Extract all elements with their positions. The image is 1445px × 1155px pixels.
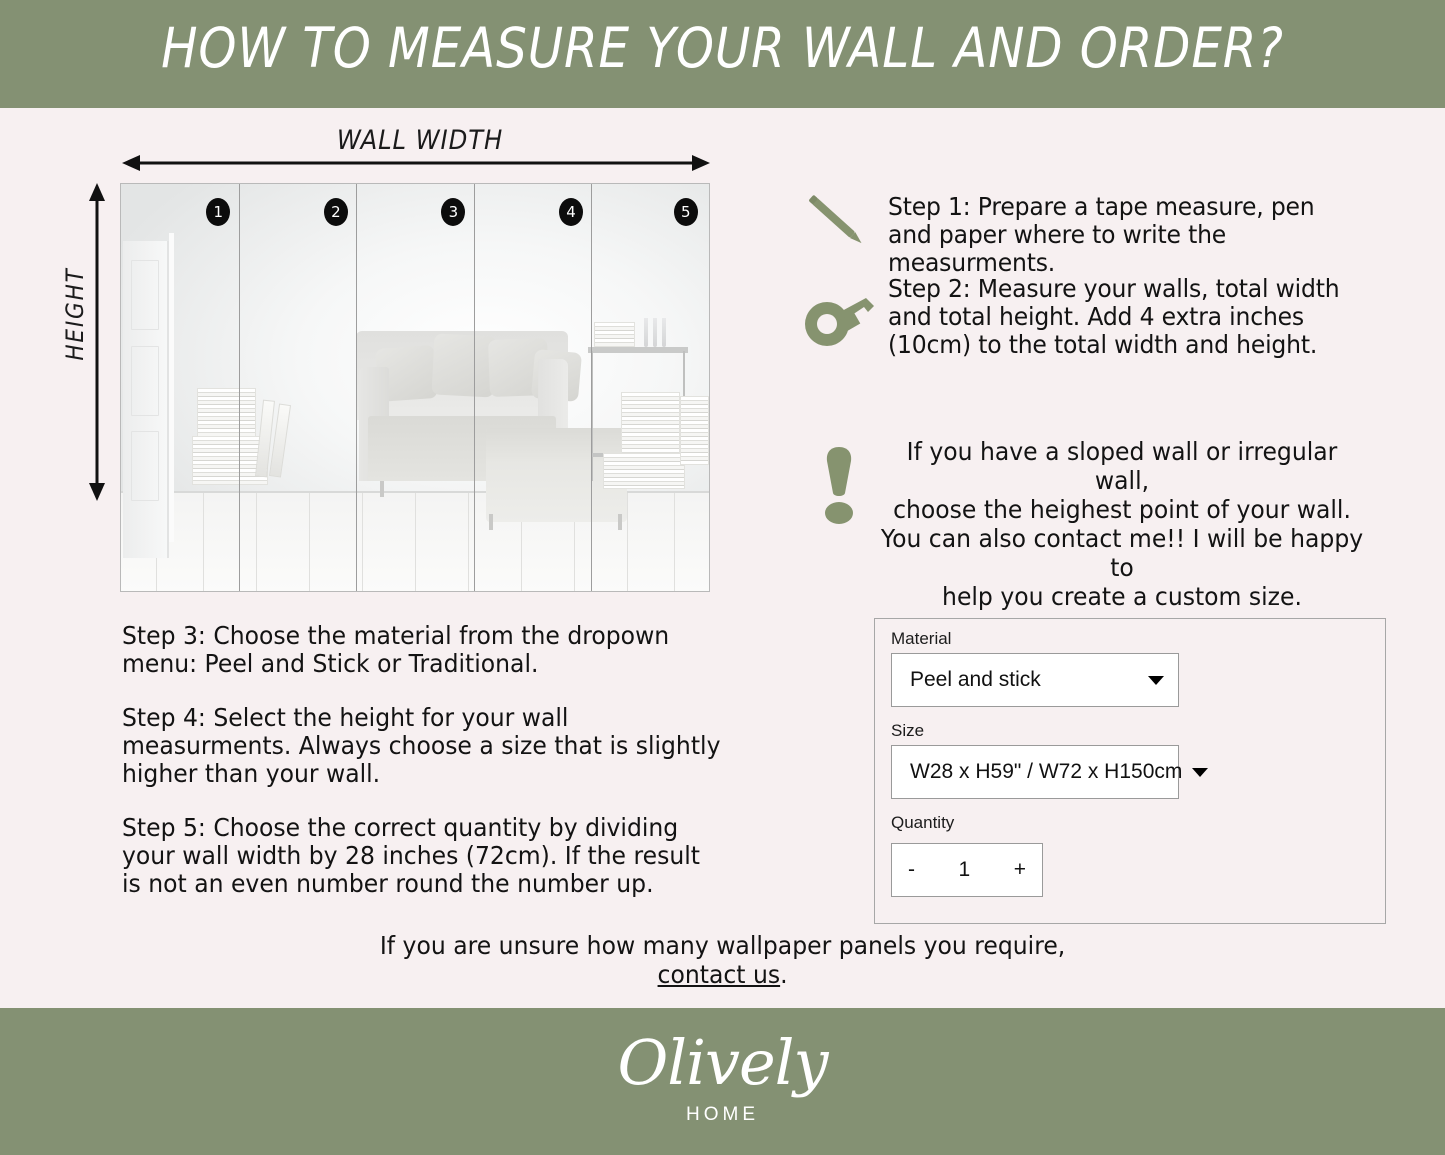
double-arrow-horizontal-icon: [122, 152, 710, 174]
size-select-value: W28 x H59" / W72 x H150cm: [910, 760, 1182, 784]
door: [123, 241, 169, 558]
note-line-3: You can also contact me!! I will be happ…: [878, 524, 1367, 582]
step-4-text: Step 4: Select the height for your wall …: [122, 704, 724, 788]
material-label: Material: [891, 629, 951, 649]
panel-divider: [356, 184, 357, 591]
panel-divider: [239, 184, 240, 591]
door-casing: [169, 233, 174, 542]
book-stack: [680, 396, 709, 465]
glassware: [653, 318, 657, 346]
brand-logo-subtitle: HOME: [0, 1104, 1445, 1126]
chevron-down-icon: [1192, 768, 1208, 777]
note-line-1: If you have a sloped wall or irregular w…: [878, 437, 1367, 495]
footnote-line-1: If you are unsure how many wallpaper pan…: [380, 932, 1065, 961]
book-stack: [594, 322, 635, 346]
sofa-leg: [618, 514, 622, 530]
sofa-leg: [380, 481, 384, 497]
step-5-text: Step 5: Choose the correct quantity by d…: [122, 814, 724, 898]
exclamation-icon: [814, 443, 864, 527]
double-arrow-vertical-icon: [86, 183, 108, 501]
quantity-decrement-button[interactable]: -: [908, 858, 915, 882]
glassware: [644, 318, 648, 346]
note-line-2: choose the heighest point of your wall.: [878, 495, 1367, 524]
panel-badge-2: 2: [324, 198, 348, 226]
room-scene: [121, 184, 709, 591]
panel-divider: [591, 184, 592, 591]
quantity-increment-button[interactable]: +: [1014, 858, 1026, 882]
chevron-down-icon: [1148, 676, 1164, 685]
glassware: [662, 318, 666, 346]
panel-badge-4: 4: [559, 198, 583, 226]
wall-height-label: HEIGHT: [61, 242, 89, 386]
book-stack: [603, 453, 685, 490]
note-line-4: help you create a custom size.: [878, 582, 1367, 611]
step-1-text: Step 1: Prepare a tape measure, pen and …: [888, 193, 1358, 277]
panel-badge-5: 5: [674, 198, 698, 226]
footnote-period: .: [780, 960, 787, 989]
pillow: [431, 333, 496, 397]
brand-logo: Olively: [0, 1026, 1445, 1099]
pencil-icon: [798, 192, 876, 250]
size-label: Size: [891, 721, 924, 741]
tape-measure-icon: [796, 288, 888, 350]
quantity-value: 1: [959, 858, 971, 882]
page-title: HOW TO MEASURE YOUR WALL AND ORDER?: [87, 16, 1359, 80]
footnote: If you are unsure how many wallpaper pan…: [0, 932, 1445, 990]
quantity-stepper[interactable]: - 1 +: [891, 843, 1043, 897]
wall-preview-image: 1 2 3 4 5: [120, 183, 710, 592]
material-select[interactable]: Peel and stick: [891, 653, 1179, 707]
panel-divider: [474, 184, 475, 591]
quantity-label: Quantity: [891, 813, 954, 833]
step-2-text: Step 2: Measure your walls, total width …: [888, 275, 1358, 359]
material-select-value: Peel and stick: [910, 668, 1041, 692]
contact-us-link[interactable]: contact us: [657, 960, 780, 989]
side-table-top: [588, 347, 688, 354]
left-steps-block: Step 3: Choose the material from the dro…: [122, 622, 762, 924]
size-select[interactable]: W28 x H59" / W72 x H150cm: [891, 745, 1179, 799]
sofa-leg: [489, 514, 493, 530]
note-block: If you have a sloped wall or irregular w…: [862, 437, 1382, 611]
step-3-text: Step 3: Choose the material from the dro…: [122, 622, 724, 678]
order-form-panel: Material Peel and stick Size W28 x H59" …: [874, 618, 1386, 924]
step-1-block: Step 1: Prepare a tape measure, pen and …: [888, 193, 1388, 277]
step-2-block: Step 2: Measure your walls, total width …: [888, 275, 1388, 359]
